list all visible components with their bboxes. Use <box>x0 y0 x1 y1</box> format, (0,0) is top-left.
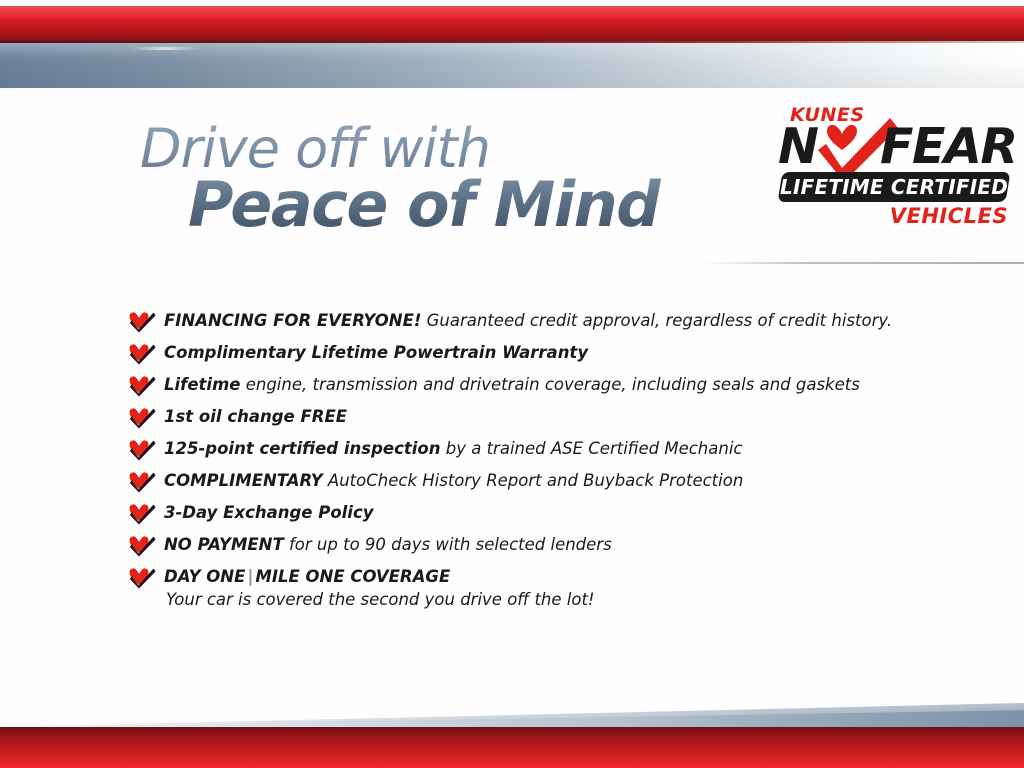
list-item-bold-2: MILE ONE COVERAGE <box>255 567 450 586</box>
list-item: 125-point certified inspection by a trai… <box>128 435 968 467</box>
top-gray-highlight <box>130 47 200 50</box>
list-item-text: NO PAYMENT for up to 90 days with select… <box>164 531 968 556</box>
heart-check-bullet-icon <box>128 375 156 397</box>
list-item-separator: | <box>245 567 255 586</box>
list-item-text: DAY ONE|MILE ONE COVERAGE <box>164 563 968 588</box>
list-item: 1st oil change FREE <box>128 403 968 435</box>
logo-certified-text: LIFETIME CERTIFIED <box>780 172 1008 202</box>
bottom-red-band <box>0 727 1024 768</box>
heart-check-bullet-icon <box>128 471 156 493</box>
list-item-rest: for up to 90 days with selected lenders <box>284 535 612 554</box>
list-item-bold: COMPLIMENTARY <box>164 471 323 490</box>
list-item-text: 3-Day Exchange Policy <box>164 499 968 524</box>
list-item-text: FINANCING FOR EVERYONE! Guaranteed credi… <box>164 307 968 332</box>
heart-check-bullet-icon <box>128 343 156 365</box>
list-item-subtext: Your car is covered the second you drive… <box>164 588 968 611</box>
list-item-rest: AutoCheck History Report and Buyback Pro… <box>323 471 744 490</box>
list-item: DAY ONE|MILE ONE COVERAGE Your car is co… <box>128 563 968 619</box>
list-item-bold: Lifetime <box>164 375 240 394</box>
list-item: FINANCING FOR EVERYONE! Guaranteed credi… <box>128 307 968 339</box>
list-item-bold: NO PAYMENT <box>164 535 284 554</box>
bottom-banner <box>0 690 1024 768</box>
heart-check-bullet-icon <box>128 535 156 557</box>
logo-nofear-group: N FEAR <box>776 122 1014 174</box>
list-item-rest: Guaranteed credit approval, regardless o… <box>421 311 892 330</box>
list-item-rest: by a trained ASE Certified Mechanic <box>441 439 743 458</box>
list-item-bold: DAY ONE <box>164 567 245 586</box>
list-item-bold: 3-Day Exchange Policy <box>164 503 374 522</box>
list-item-text: Complimentary Lifetime Powertrain Warran… <box>164 339 968 364</box>
headline-line-2: Peace of Mind <box>188 172 760 238</box>
list-item-bold: Complimentary Lifetime Powertrain Warran… <box>164 343 588 362</box>
list-item: Complimentary Lifetime Powertrain Warran… <box>128 339 968 371</box>
kunes-no-fear-logo: KUNES N FEAR LIFETIME CERTIFIED VEHICLES <box>776 104 1014 237</box>
heart-check-bullet-icon <box>128 439 156 461</box>
page-title: Drive off with Peace of Mind <box>140 120 760 238</box>
list-item-text: Lifetime engine, transmission and drivet… <box>164 371 968 396</box>
logo-word-fear: FEAR <box>880 122 1017 172</box>
list-item-text: COMPLIMENTARY AutoCheck History Report a… <box>164 467 968 492</box>
list-item-bold: 1st oil change FREE <box>164 407 347 426</box>
list-item: 3-Day Exchange Policy <box>128 499 968 531</box>
list-item: COMPLIMENTARY AutoCheck History Report a… <box>128 467 968 499</box>
heart-check-bullet-icon <box>128 407 156 429</box>
header-area: Drive off with Peace of Mind KUNES N FEA… <box>0 92 1024 267</box>
top-banner <box>0 0 1024 92</box>
feature-list: FINANCING FOR EVERYONE! Guaranteed credi… <box>128 307 968 619</box>
list-item-text: 1st oil change FREE <box>164 403 968 428</box>
header-divider <box>700 262 1024 264</box>
heart-check-bullet-icon <box>128 503 156 525</box>
list-item-rest: engine, transmission and drivetrain cove… <box>240 375 859 394</box>
top-red-shine <box>0 6 1024 20</box>
heart-check-bullet-icon <box>128 567 156 589</box>
list-item: Lifetime engine, transmission and drivet… <box>128 371 968 403</box>
list-item-text: 125-point certified inspection by a trai… <box>164 435 968 460</box>
logo-vehicles-text: VEHICLES <box>890 204 1008 228</box>
promo-page: Drive off with Peace of Mind KUNES N FEA… <box>0 0 1024 768</box>
heart-check-bullet-icon <box>128 311 156 333</box>
list-item: NO PAYMENT for up to 90 days with select… <box>128 531 968 563</box>
list-item-bold: FINANCING FOR EVERYONE! <box>164 311 421 330</box>
list-item-bold: 125-point certified inspection <box>164 439 441 458</box>
